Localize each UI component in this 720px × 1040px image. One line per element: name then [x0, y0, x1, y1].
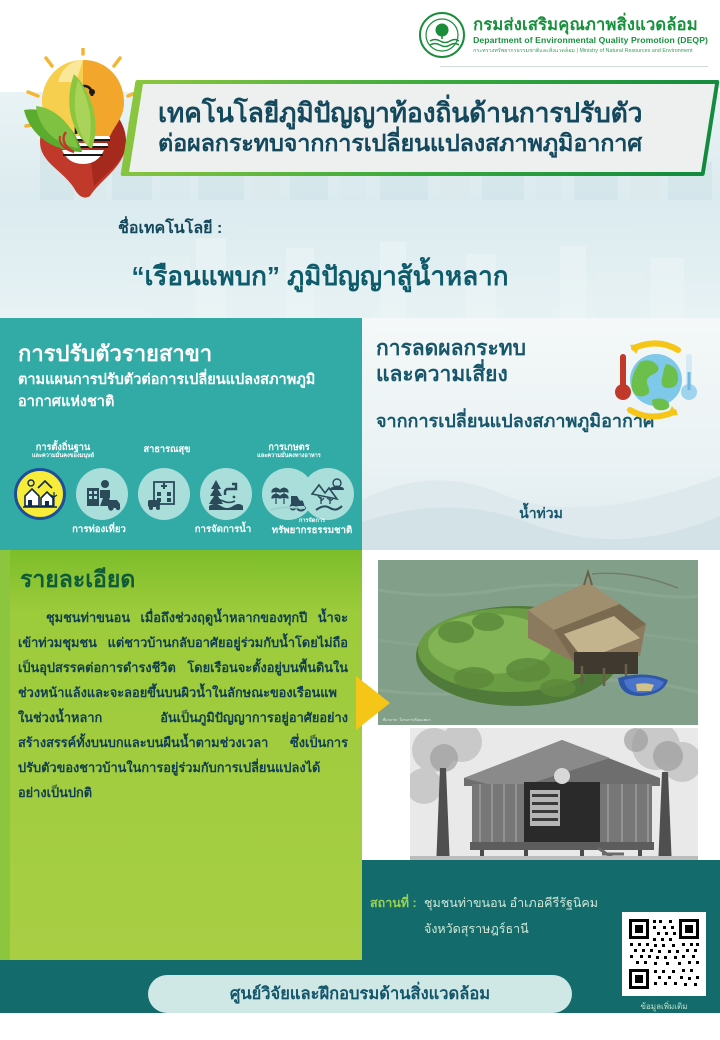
- adaptation-panel: การปรับตัวรายสาขา ตามแผนการปรับตัวต่อการ…: [0, 318, 362, 550]
- natural-resources-mountain-icon[interactable]: [302, 468, 354, 520]
- settlement-village-icon[interactable]: [14, 468, 66, 520]
- footer-label-text: ศูนย์วิจัยและฝึกอบรมด้านสิ่งแวดล้อม: [230, 981, 490, 1007]
- technology-name-section: ชื่อเทคโนโลยี : “เรือนแพบก” ภูมิปัญญาสู้…: [0, 200, 720, 318]
- risk-label-flood: น้ำท่วม: [362, 503, 720, 525]
- arrow-right-icon: [352, 672, 392, 734]
- sector-label-water: การจัดการน้ำ: [178, 524, 268, 535]
- poster-header: กรมส่งเสริมคุณภาพสิ่งแวดล้อม Department …: [0, 0, 720, 200]
- tourism-city-car-icon[interactable]: [76, 468, 128, 520]
- footer-center-label: ศูนย์วิจัยและฝึกอบรมด้านสิ่งแวดล้อม: [148, 975, 572, 1013]
- org-name-thai: กรมส่งเสริมคุณภาพสิ่งแวดล้อม: [473, 16, 708, 35]
- sector-label-settlement: การตั้งถิ่นฐาน และความมั่นคงของมนุษย์: [10, 442, 116, 459]
- globe-thermometer-climate-icon: [600, 338, 704, 424]
- title-banner: เทคโนโลยีภูมิปัญญาท้องถิ่นด้านการปรับตัว…: [129, 84, 715, 172]
- poster-root: กรมส่งเสริมคุณภาพสิ่งแวดล้อม Department …: [0, 0, 720, 1040]
- poster-title-line1: เทคโนโลยีภูมิปัญญาท้องถิ่นด้านการปรับตัว: [158, 98, 708, 129]
- adaptation-heading: การปรับตัวรายสาขา: [18, 336, 212, 371]
- qr-caption: ข้อมูลเพิ่มเติม: [622, 1000, 706, 1013]
- details-body-text: ชุมชนท่าขนอน เมื่อถึงช่วงฤดูน้ำหลากของทุ…: [18, 606, 348, 806]
- details-section: รายละเอียด ชุมชนท่าขนอน เมื่อถึงช่วงฤดูน…: [0, 550, 362, 990]
- poster-title-line2: ต่อผลกระทบจากการเปลี่ยนแปลงสภาพภูมิอากาศ: [158, 130, 708, 158]
- header-divider: [440, 66, 708, 67]
- org-name-english: Department of Environmental Quality Prom…: [473, 36, 708, 46]
- mitigation-heading: การลดผลกระทบ และความเสี่ยง: [376, 336, 526, 389]
- org-ministry-line: กระทรวงทรัพยากรธรรมชาติและสิ่งแวดล้อม | …: [473, 48, 708, 54]
- location-line2: จังหวัดสุราษฎร์ธานี: [424, 919, 529, 939]
- deqp-logo: กรมส่งเสริมคุณภาพสิ่งแวดล้อม Department …: [419, 12, 708, 58]
- details-heading: รายละเอียด: [20, 562, 135, 598]
- sector-icons-row: การตั้งถิ่นฐาน และความมั่นคงของมนุษย์ สา…: [6, 442, 362, 548]
- water-management-tap-river-icon[interactable]: [200, 468, 252, 520]
- vintage-wooden-stilt-house-photo: [410, 728, 698, 870]
- footer-white-strip: [0, 1013, 720, 1040]
- hills-decoration: [362, 440, 720, 550]
- adaptation-subheading: ตามแผนการปรับตัวต่อการเปลี่ยนแปลงสภาพภูม…: [18, 370, 350, 414]
- mitigation-panel: การลดผลกระทบ และความเสี่ยง จากการเปลี่ยน…: [362, 318, 720, 550]
- deqp-tree-water-seal-icon: [419, 12, 465, 58]
- floating-raft-house-photo: ที่มาภาพ : โครงการเรือนแพบก: [378, 560, 698, 725]
- sector-label-tourism: การท่องเที่ยว: [54, 524, 144, 535]
- location-line1: ชุมชนท่าขนอน อำเภอคีรีรัฐนิคม: [424, 893, 598, 913]
- technology-name-label: ชื่อเทคโนโลยี :: [118, 216, 222, 241]
- technology-name-value: “เรือนแพบก” ภูมิปัญญาสู้น้ำหลาก: [0, 256, 640, 297]
- sector-label-agriculture: การเกษตร และความมั่นคงทางอาหาร: [234, 442, 344, 459]
- public-health-hospital-icon[interactable]: [138, 468, 190, 520]
- sector-label-natural-resources: การจัดการ ทรัพยากรธรรมชาติ: [262, 518, 362, 536]
- sector-label-health: สาธารณสุข: [124, 444, 210, 455]
- location-label: สถานที่ :: [370, 893, 417, 913]
- qr-code-icon[interactable]: [622, 912, 706, 996]
